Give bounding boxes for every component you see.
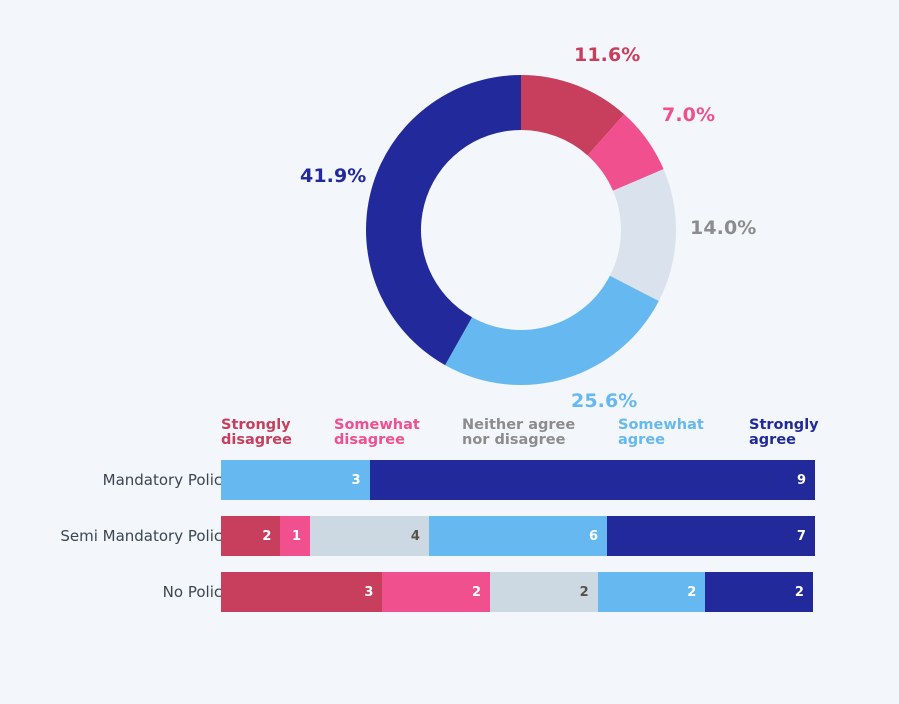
donut-label-strongly-agree: 41.9%	[300, 165, 366, 187]
bar-row: Semi Mandatory Policy21467	[0, 516, 899, 556]
bar-track: 32222	[221, 572, 813, 612]
bar-segment-somewhat-agree[interactable]: 2	[598, 572, 706, 612]
donut-chart-svg	[361, 70, 681, 390]
chart-canvas: 11.6%7.0%14.0%25.6%41.9% Strongly disagr…	[0, 0, 899, 704]
bar-track: 39	[221, 460, 815, 500]
donut-slice-somewhat-agree[interactable]	[445, 276, 659, 385]
legend-item-strongly-disagree[interactable]: Strongly disagree	[221, 418, 292, 448]
legend-item-somewhat-agree[interactable]: Somewhat agree	[618, 418, 704, 448]
bar-segment-strongly-disagree[interactable]: 3	[221, 572, 382, 612]
legend-item-strongly-agree[interactable]: Strongly agree	[749, 418, 819, 448]
bar-segment-somewhat-agree[interactable]: 3	[221, 460, 370, 500]
donut-slice-strongly-agree[interactable]	[366, 75, 521, 365]
donut-label-strongly-disagree: 11.6%	[574, 44, 640, 66]
bar-segment-strongly-agree[interactable]: 9	[370, 460, 816, 500]
bar-row-label: Mandatory Policy	[103, 460, 231, 500]
legend-item-somewhat-disagree[interactable]: Somewhat disagree	[334, 418, 420, 448]
bar-segment-strongly-disagree[interactable]: 2	[221, 516, 280, 556]
bar-segment-neither[interactable]: 2	[490, 572, 598, 612]
donut-chart: 11.6%7.0%14.0%25.6%41.9%	[0, 0, 899, 410]
bar-segment-somewhat-disagree[interactable]: 2	[382, 572, 490, 612]
bar-segment-strongly-agree[interactable]: 7	[607, 516, 815, 556]
bar-row: No Policy32222	[0, 572, 899, 612]
bar-row-label: Semi Mandatory Policy	[60, 516, 231, 556]
donut-label-somewhat-agree: 25.6%	[571, 390, 637, 412]
legend-item-neither[interactable]: Neither agree nor disagree	[462, 418, 575, 448]
bar-row: Mandatory Policy39	[0, 460, 899, 500]
bar-segment-neither[interactable]: 4	[310, 516, 429, 556]
bar-track: 21467	[221, 516, 815, 556]
bar-segment-strongly-agree[interactable]: 2	[705, 572, 813, 612]
bar-segment-somewhat-agree[interactable]: 6	[429, 516, 607, 556]
stacked-bar-chart: Mandatory Policy39Semi Mandatory Policy2…	[0, 460, 899, 630]
donut-label-somewhat-disagree: 7.0%	[662, 104, 715, 126]
bar-segment-somewhat-disagree[interactable]: 1	[280, 516, 310, 556]
donut-label-neither: 14.0%	[690, 217, 756, 239]
chart-legend: Strongly disagreeSomewhat disagreeNeithe…	[0, 418, 899, 458]
